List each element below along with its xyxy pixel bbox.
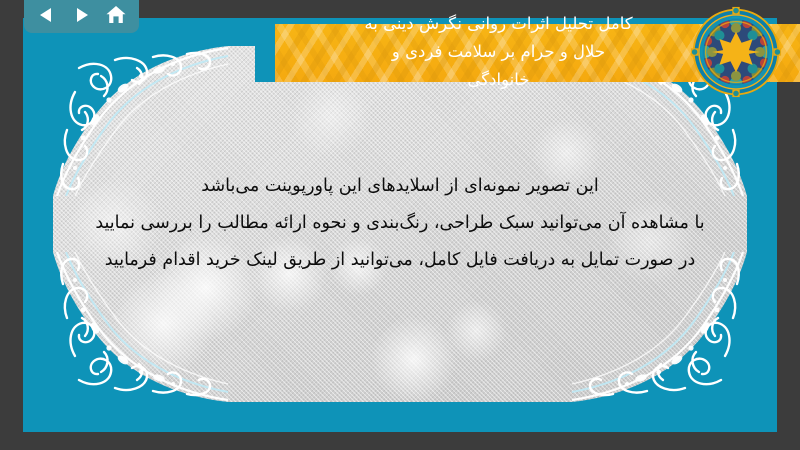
persian-medallion-icon xyxy=(690,6,782,98)
body-line-3: در صورت تمایل به دریافت فایل کامل، می‌تو… xyxy=(93,242,707,279)
slide-content-panel: این تصویر نمونه‌ای از اسلایدهای این پاور… xyxy=(53,46,747,402)
page-title: کامل تحلیل اثرات روانی نگرش دینی به حلال… xyxy=(255,10,742,94)
body-line-2: با مشاهده آن می‌توانید سبک طراحی، رنگ‌بن… xyxy=(93,205,707,242)
forward-triangle-icon xyxy=(71,5,91,25)
slide-body-text: این تصویر نمونه‌ای از اسلایدهای این پاور… xyxy=(93,168,707,279)
home-button[interactable] xyxy=(103,2,129,28)
navigation-bar xyxy=(24,0,139,33)
back-triangle-icon xyxy=(37,5,57,25)
body-line-1: این تصویر نمونه‌ای از اسلایدهای این پاور… xyxy=(93,168,707,205)
slide-viewer: این تصویر نمونه‌ای از اسلایدهای این پاور… xyxy=(0,0,800,450)
forward-button[interactable] xyxy=(68,2,94,28)
home-icon xyxy=(105,4,127,26)
back-button[interactable] xyxy=(34,2,60,28)
